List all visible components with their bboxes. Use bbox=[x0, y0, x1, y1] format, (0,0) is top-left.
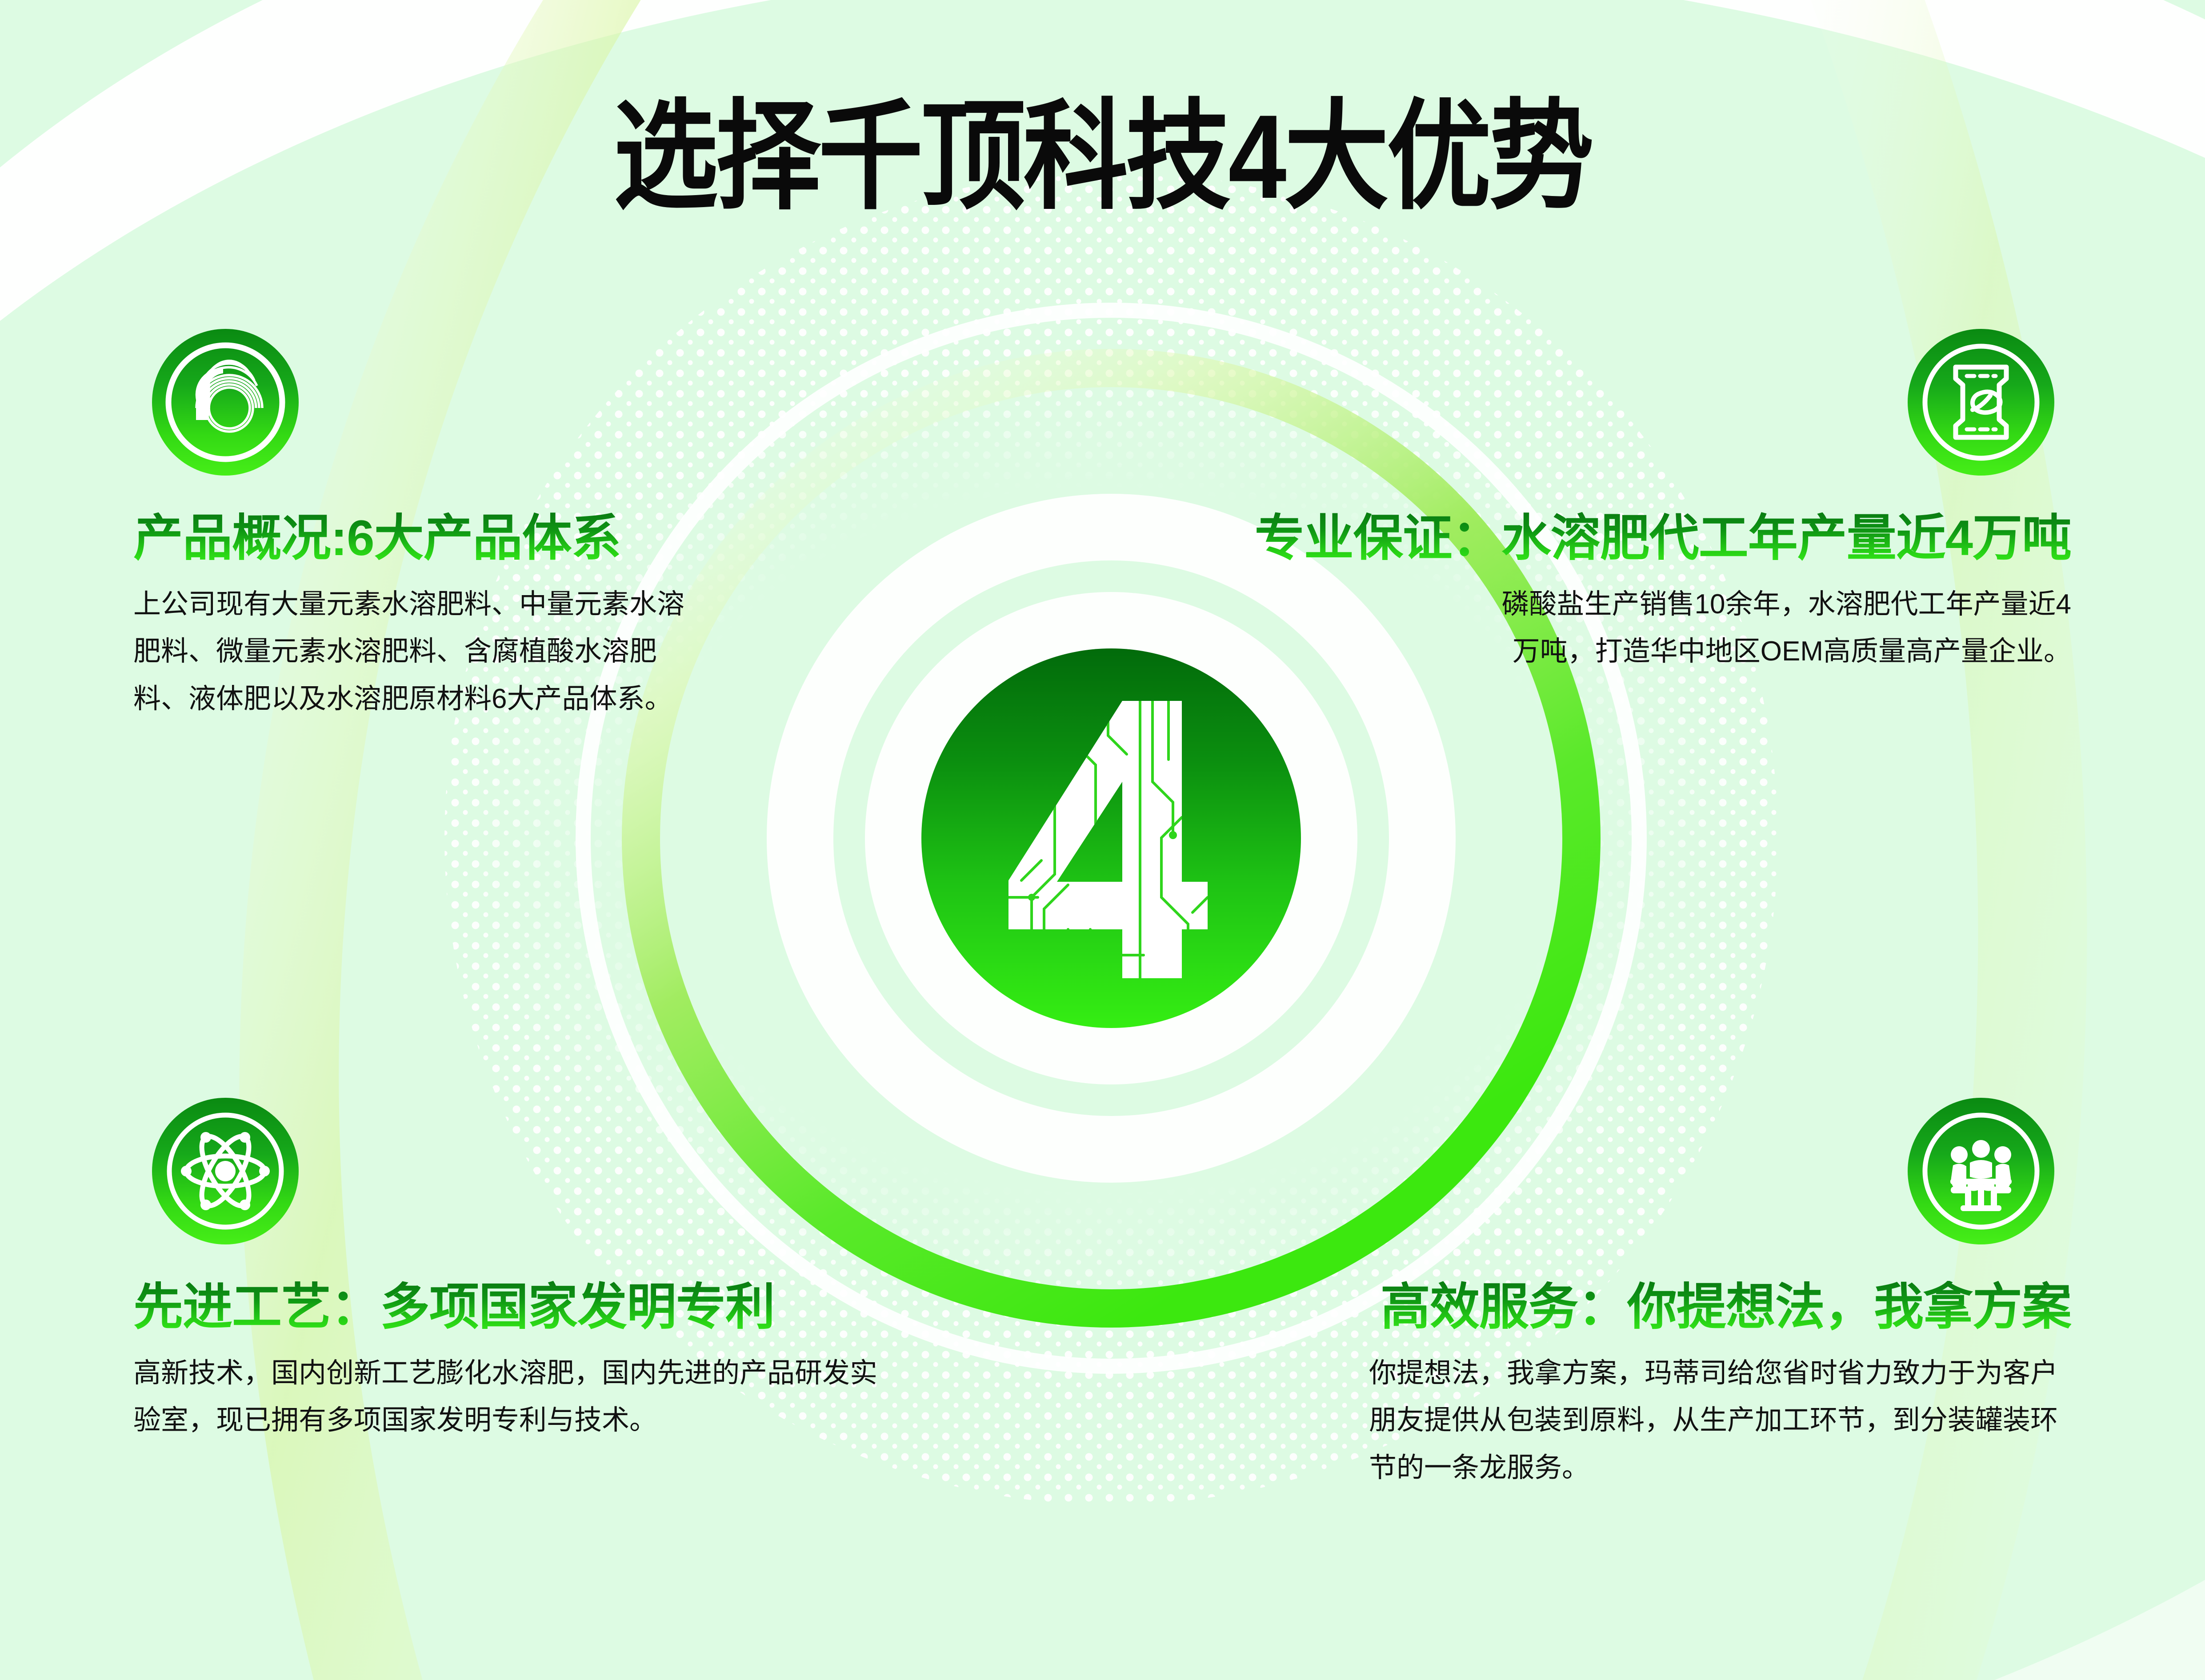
feature-heading-process: 先进工艺：多项国家发明专利 bbox=[133, 1281, 889, 1334]
atom-icon bbox=[152, 1098, 299, 1244]
feature-body-products: 上公司现有大量元素水溶肥料、中量元素水溶肥料、微量元素水溶肥料、含腐植酸水溶肥料… bbox=[133, 581, 693, 723]
feature-body-process: 高新技术，国内创新工艺膨化水溶肥，国内先进的产品研发实验室，现已拥有多项国家发明… bbox=[133, 1350, 880, 1444]
feature-block-service: 高效服务：你提想法，我拿方案 你提想法，我拿方案，玛蒂司给您省时省力致力于为客户… bbox=[1316, 1098, 2071, 1492]
center-number-four-icon bbox=[921, 648, 1301, 1028]
infographic-stage: 选择千顶科技4大优势 bbox=[0, 0, 2205, 1680]
fertilizer-bag-icon bbox=[1908, 329, 2054, 476]
feature-block-process: 先进工艺：多项国家发明专利 高新技术，国内创新工艺膨化水溶肥，国内先进的产品研发… bbox=[133, 1098, 889, 1444]
feature-heading-service: 高效服务：你提想法，我拿方案 bbox=[1316, 1281, 2071, 1334]
feature-body-service: 你提想法，我拿方案，玛蒂司给您省时省力致力于为客户朋友提供从包装到原料，从生产加… bbox=[1369, 1350, 2071, 1492]
meeting-table-icon bbox=[1908, 1098, 2054, 1244]
feature-body-capacity: 磷酸盐生产销售10余年，水溶肥代工年产量近4万吨，打造华中地区OEM高质量高产量… bbox=[1480, 581, 2071, 676]
feature-heading-capacity: 专业保证：水溶肥代工年产量近4万吨 bbox=[1156, 512, 2071, 565]
page-title: 选择千顶科技4大优势 bbox=[132, 97, 2073, 216]
feature-block-products: 产品概况:6大产品体系 上公司现有大量元素水溶肥料、中量元素水溶肥料、微量元素水… bbox=[133, 329, 720, 723]
six-rings-icon bbox=[152, 329, 299, 476]
feature-block-capacity: 专业保证：水溶肥代工年产量近4万吨 磷酸盐生产销售10余年，水溶肥代工年产量近4… bbox=[1156, 329, 2071, 676]
feature-heading-products: 产品概况:6大产品体系 bbox=[133, 512, 720, 565]
